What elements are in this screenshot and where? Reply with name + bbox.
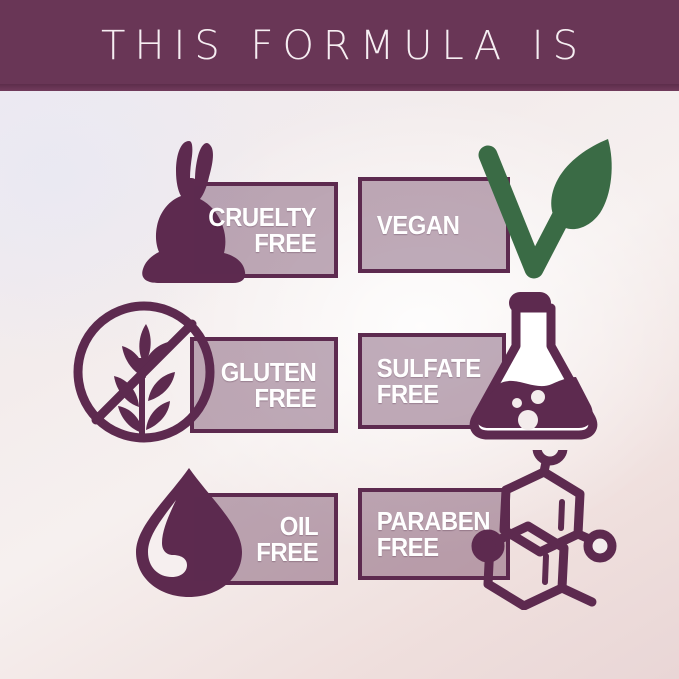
- header-shadow-strip: [0, 84, 679, 91]
- badge-oil-free-label: OIL FREE: [256, 513, 331, 565]
- badge-gluten-free-label: GLUTEN FREE: [221, 359, 329, 411]
- badge-gluten-free[interactable]: GLUTEN FREE: [190, 337, 338, 433]
- badge-sulfate-free-label: SULFATE FREE: [362, 355, 481, 407]
- badge-oil-free[interactable]: OIL FREE: [190, 493, 338, 585]
- formula-claims-infographic: THIS FORMULA IS CRUELTY FREE VEGAN: [0, 0, 679, 679]
- background-tint: [0, 91, 679, 679]
- badge-cruelty-free-label: CRUELTY FREE: [208, 204, 329, 256]
- page-title: THIS FORMULA IS: [0, 24, 679, 68]
- badge-vegan[interactable]: VEGAN: [358, 177, 510, 273]
- badge-cruelty-free[interactable]: CRUELTY FREE: [190, 182, 338, 278]
- badge-paraben-free[interactable]: PARABEN FREE: [358, 488, 510, 580]
- badge-sulfate-free[interactable]: SULFATE FREE: [358, 333, 506, 429]
- badge-vegan-label: VEGAN: [362, 212, 459, 238]
- badge-paraben-free-label: PARABEN FREE: [362, 508, 490, 560]
